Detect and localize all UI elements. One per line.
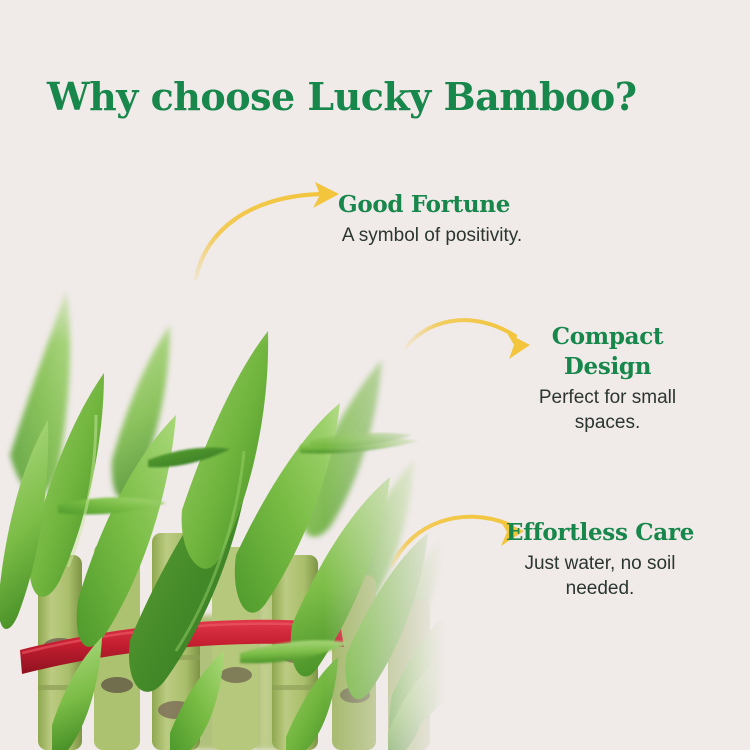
callout-body-effortless-care: Just water, no soil needed. [505,551,695,601]
callout-heading-compact-design: Compact Design [520,322,695,382]
callout-good-fortune: Good Fortune A symbol of positivity. [338,190,526,248]
callout-compact-design: Compact Design Perfect for small spaces. [520,322,695,435]
page-title: Why choose Lucky Bamboo? [47,74,636,119]
callout-heading-effortless-care: Effortless Care [505,518,695,548]
callout-body-compact-design: Perfect for small spaces. [520,385,695,435]
callout-body-good-fortune: A symbol of positivity. [338,223,526,248]
callout-effortless-care: Effortless Care Just water, no soil need… [505,518,695,601]
bamboo-plant-illustration [0,255,450,750]
lucky-bamboo-infographic: Why choose Lucky Bamboo? [0,0,750,750]
callout-heading-good-fortune: Good Fortune [338,190,526,220]
bamboo-plant-image [0,255,450,750]
